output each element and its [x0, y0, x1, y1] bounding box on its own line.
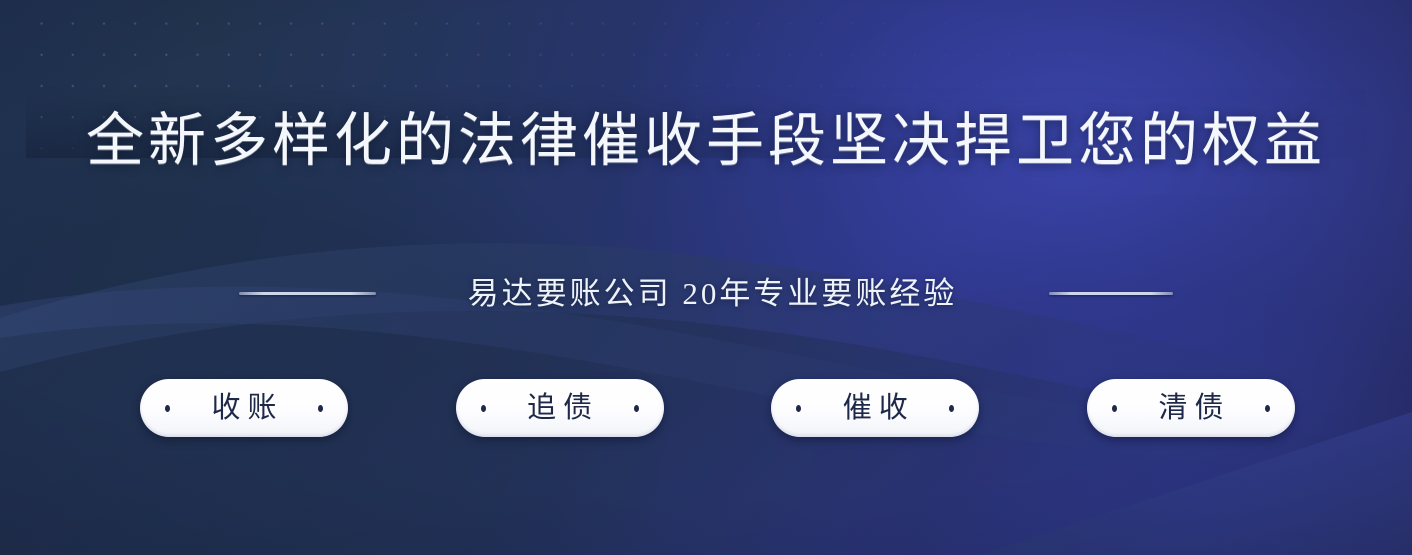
pill-button-shouzhang[interactable]: 收账	[140, 379, 348, 437]
pill-button-qingzhai[interactable]: 清债	[1087, 379, 1295, 437]
left-rule-icon	[239, 292, 376, 295]
bullet-dot-icon	[634, 405, 639, 412]
pill-button-zhuizhai[interactable]: 追债	[456, 379, 664, 437]
pill-label: 收账	[204, 394, 283, 423]
bullet-dot-icon	[1112, 405, 1117, 412]
subtitle: 易达要账公司 20年专业要账经验	[468, 278, 958, 309]
headline: 全新多样化的法律催收手段坚决捍卫您的权益	[0, 112, 1412, 170]
pill-label: 清债	[1151, 394, 1230, 423]
right-rule-icon	[1049, 292, 1173, 295]
promo-banner: 全新多样化的法律催收手段坚决捍卫您的权益 易达要账公司 20年专业要账经验 收账…	[0, 0, 1412, 555]
banner-content: 全新多样化的法律催收手段坚决捍卫您的权益 易达要账公司 20年专业要账经验 收账…	[0, 0, 1412, 555]
subtitle-row: 易达要账公司 20年专业要账经验	[0, 270, 1412, 316]
service-pill-group: 收账 追债 催收 清债	[140, 379, 1295, 437]
pill-label: 追债	[520, 394, 599, 423]
pill-label: 催收	[836, 394, 915, 423]
bullet-dot-icon	[481, 405, 486, 412]
bullet-dot-icon	[949, 405, 954, 412]
bullet-dot-icon	[796, 405, 801, 412]
pill-button-cuishou[interactable]: 催收	[771, 379, 979, 437]
bullet-dot-icon	[318, 405, 323, 412]
bullet-dot-icon	[165, 405, 170, 412]
bullet-dot-icon	[1265, 405, 1270, 412]
